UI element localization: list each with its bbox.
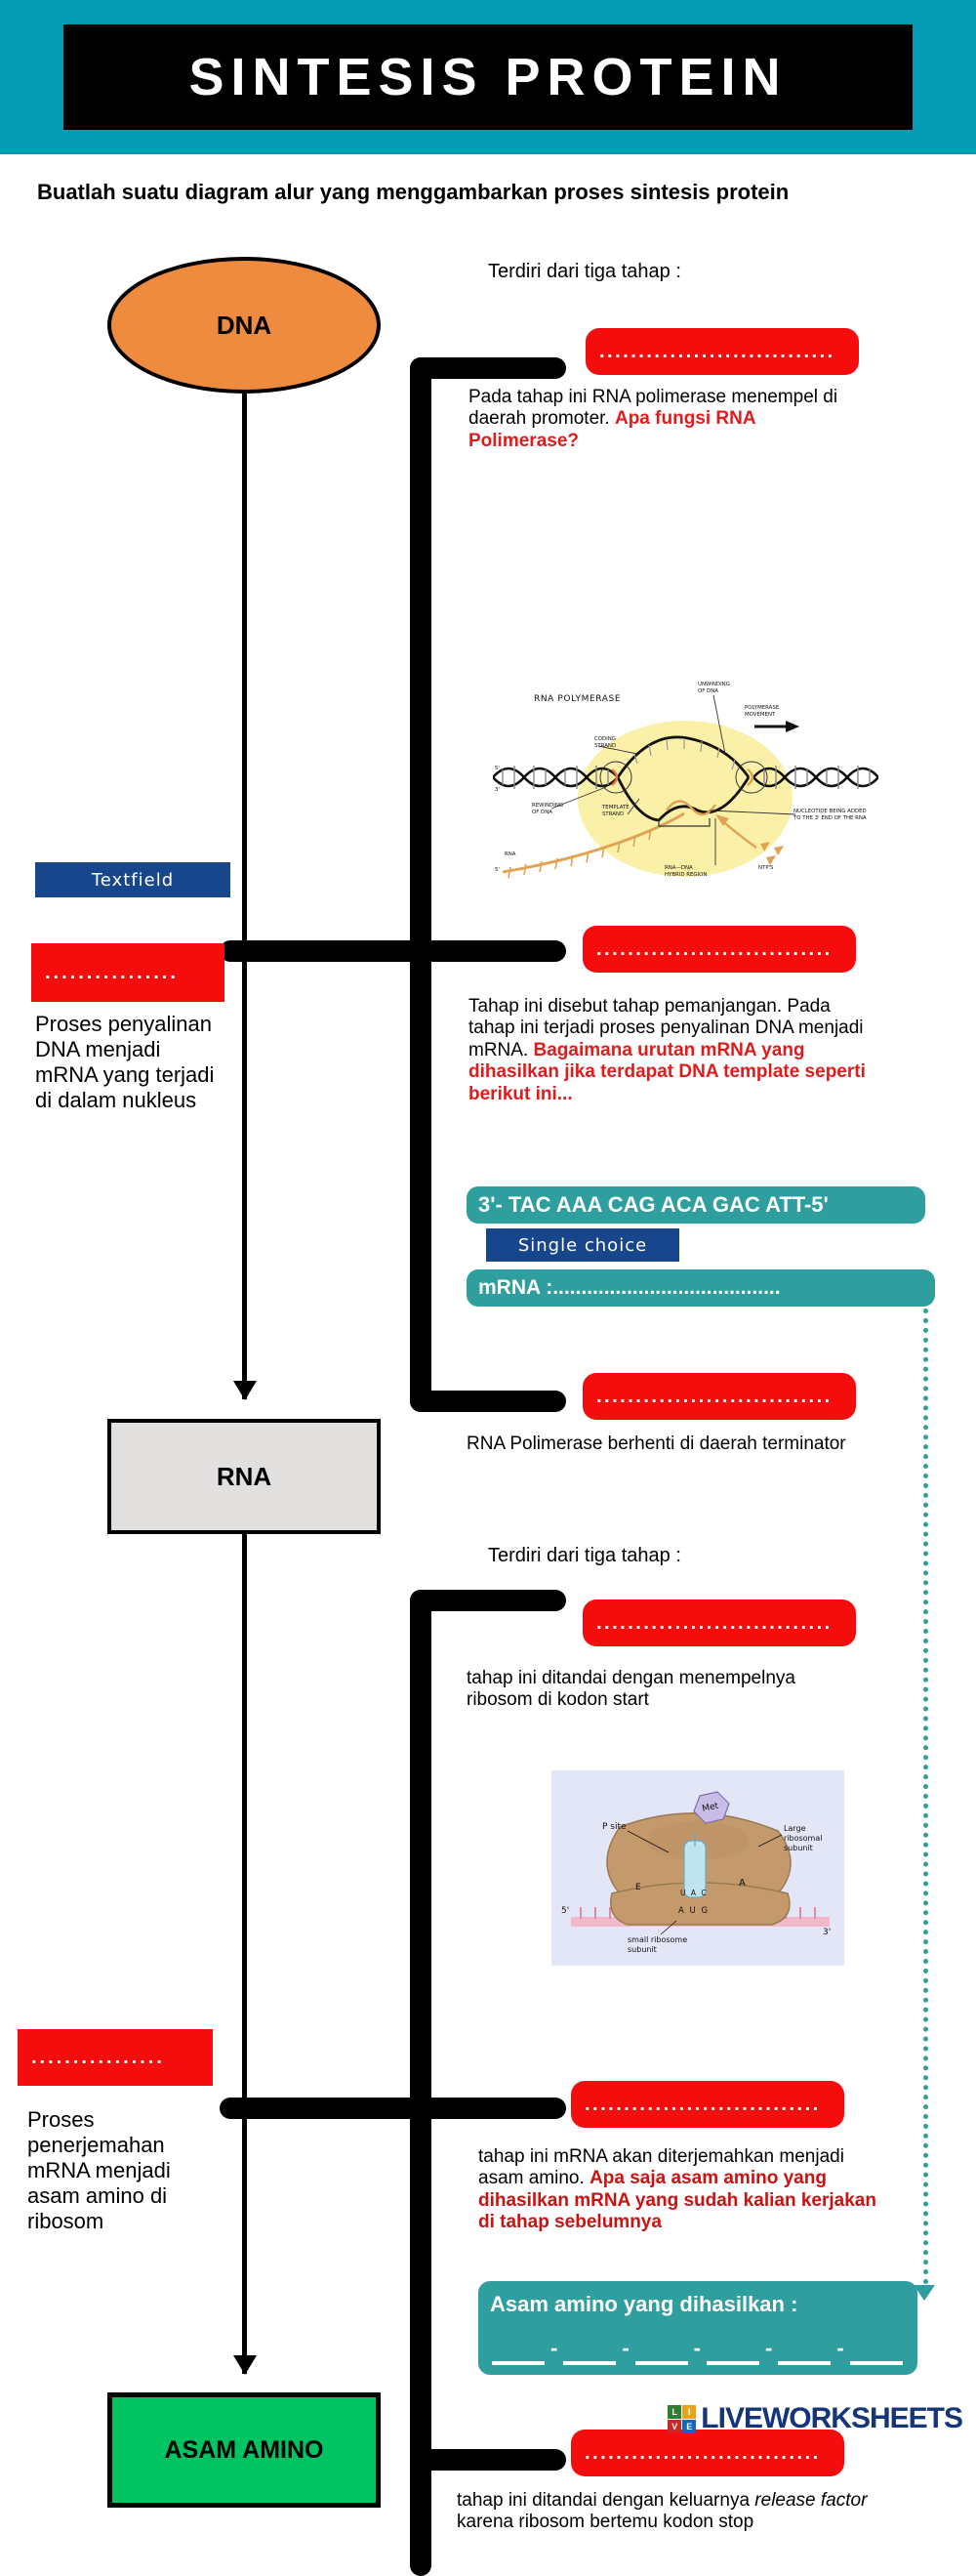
amino-blank-2[interactable] [563,2361,616,2365]
svg-text:RNA: RNA [505,852,516,857]
svg-text:subunit: subunit [628,1945,657,1954]
svg-text:subunit: subunit [784,1844,813,1852]
svg-text:OF DNA: OF DNA [532,810,552,815]
transcription-left-stub [220,940,415,962]
svg-text:TEMPLATE: TEMPLATE [601,805,630,810]
arrow-dna-to-rna [242,394,247,1399]
svg-text:3': 3' [823,1928,831,1937]
logo-letter-i: I [682,2405,696,2419]
mrna-answer-input[interactable]: mRNA :..................................… [467,1269,935,1307]
amino-blank-5[interactable] [778,2361,831,2365]
transcription-stage1-text: Pada tahap ini RNA polimerase menempel d… [468,387,859,452]
textfield-tag: Textfield [35,862,230,897]
transcription-stage1-input[interactable]: .............................. [586,328,859,375]
translation-spine [410,1590,431,2576]
svg-text:3': 3' [495,787,500,793]
transcription-stage3-connector [410,1391,566,1412]
transcription-description-input[interactable]: ................ [31,943,224,1002]
mrna-to-result-dotted-connector [923,1309,928,2285]
translation-description-text: Proses penerjemahan mRNA menjadi asam am… [27,2107,223,2234]
amino-blank-4[interactable] [707,2361,759,2365]
svg-text:5': 5' [495,766,500,771]
translation-stage3-connector [410,2449,566,2471]
translation-stage3-plain2: karena ribosom bertemu kodon stop [457,2512,753,2532]
svg-text:NTP'S: NTP'S [758,865,774,871]
transcription-spine [410,357,431,1412]
flow-node-dna: DNA [107,257,381,394]
transcription-stage2-plain1: Tahap ini disebut tahap pemanjangan. [468,996,782,1017]
svg-text:UNWINDING: UNWINDING [698,682,730,687]
page-header: SINTESIS PROTEIN [0,0,976,154]
translation-heading: Terdiri dari tiga tahap : [488,1544,681,1567]
svg-text:ribosomal: ribosomal [784,1834,822,1843]
worksheet-canvas: Buatlah suatu diagram alur yang menggamb… [0,154,976,2441]
rna-polymerase-illustration: RNA POLYMERASE UNWINDING OF DNA POLYMERA… [493,662,878,916]
logo-letter-e: E [682,2420,696,2433]
svg-text:Large: Large [784,1824,806,1833]
translation-stage1-connector [410,1590,566,1611]
transcription-description-text: Proses penyalinan DNA menjadi mRNA yang … [35,1012,225,1113]
translation-stage3-text: tahap ini ditandai dengan keluarnya rele… [457,2490,906,2534]
svg-text:small ribosome: small ribosome [628,1935,687,1944]
dna-template-sequence: 3'- TAC AAA CAG ACA GAC ATT-5' [467,1186,925,1224]
amino-dash-5: - [836,2338,843,2359]
arrow-rna-to-amino [242,1534,247,2374]
svg-text:A U G: A U G [678,1906,710,1916]
translation-stage1-input[interactable]: .............................. [583,1600,856,1646]
amino-blank-3[interactable] [635,2361,688,2365]
single-choice-tag: Single choice [486,1228,679,1262]
transcription-stage2-text: Tahap ini disebut tahap pemanjangan. Pad… [468,996,878,1105]
amino-dash-1: - [550,2338,557,2359]
title-plate: SINTESIS PROTEIN [63,24,913,130]
amino-dash-3: - [694,2338,701,2359]
svg-text:U A C: U A C [680,1889,708,1897]
transcription-stage1-connector [410,357,566,379]
logo-letter-v: V [668,2420,681,2433]
svg-text:STRAND: STRAND [602,811,624,817]
translation-stage2-input[interactable]: .............................. [571,2081,844,2128]
liveworksheets-logo-text: LIVEWORKSHEETS [701,2402,962,2435]
transcription-stage3-input[interactable]: .............................. [583,1373,856,1420]
transcription-stage2-input[interactable]: .............................. [583,926,856,973]
amino-dash-2: - [622,2338,629,2359]
svg-text:NUCLEOTIDE BEING ADDED: NUCLEOTIDE BEING ADDED [793,809,867,814]
page-title: SINTESIS PROTEIN [188,47,787,107]
translation-stage2-text: tahap ini mRNA akan diterjemahkan menjad… [478,2146,878,2234]
svg-text:OF DNA: OF DNA [698,688,718,694]
svg-text:MOVEMENT: MOVEMENT [745,712,776,718]
translation-stage3-input[interactable]: .............................. [571,2430,844,2476]
svg-text:POLYMERASE: POLYMERASE [745,705,780,711]
svg-text:5': 5' [495,867,500,873]
ribosome-svg: Met E A U A C A U G P site Large ribosom… [551,1770,844,1966]
amino-blank-row[interactable]: - - - - - [492,2344,903,2365]
translation-stage1-text: tahap ini ditandai dengan menempelnya ri… [467,1668,857,1712]
translation-description-input[interactable]: ................ [18,2029,213,2086]
translation-stage3-plain1: tahap ini ditandai dengan keluarnya [457,2490,754,2511]
amino-result-label: Asam amino yang dihasilkan : [478,2281,917,2328]
logo-letter-l: L [668,2405,681,2419]
flow-node-rna: RNA [107,1419,381,1534]
svg-text:CODING: CODING [594,736,616,742]
svg-text:STRAND: STRAND [594,743,616,749]
flow-node-amino-label: ASAM AMINO [165,2436,324,2465]
amino-blank-6[interactable] [850,2361,903,2365]
liveworksheets-logo: L I V E LIVEWORKSHEETS [668,2402,962,2435]
svg-text:REWINDING: REWINDING [532,803,563,809]
transcription-heading: Terdiri dari tiga tahap : [488,260,681,283]
svg-text:A: A [739,1878,746,1889]
svg-text:P site: P site [602,1822,627,1832]
transcription-stage3-text: RNA Polimerase berhenti di daerah termin… [467,1433,867,1455]
translation-stage3-italic: release factor [754,2490,867,2511]
flow-node-dna-label: DNA [217,311,271,341]
svg-text:E: E [635,1883,641,1892]
instruction-text: Buatlah suatu diagram alur yang menggamb… [37,179,896,207]
svg-text:RNA—DNA: RNA—DNA [665,865,693,871]
flow-node-amino-acid: ASAM AMINO [107,2392,381,2508]
svg-text:RNA POLYMERASE: RNA POLYMERASE [534,694,621,704]
svg-text:5': 5' [561,1906,569,1916]
svg-text:TO THE 3' END OF THE RNA: TO THE 3' END OF THE RNA [793,815,867,821]
ribosome-illustration: Met E A U A C A U G P site Large ribosom… [551,1770,844,1966]
amino-blank-1[interactable] [492,2361,545,2365]
flow-node-rna-label: RNA [217,1462,271,1492]
liveworksheets-logo-icon: L I V E [668,2405,696,2433]
amino-dash-4: - [765,2338,772,2359]
svg-text:HYBRID REGION: HYBRID REGION [665,872,707,878]
transcription-stage2-question: Bagaimana urutan mRNA yang dihasilkan ji… [468,1040,866,1104]
amino-result-blanks-box[interactable]: - - - - - [478,2328,917,2375]
translation-stage2-connector [220,2098,566,2119]
rna-polymerase-svg: RNA POLYMERASE UNWINDING OF DNA POLYMERA… [493,662,878,916]
